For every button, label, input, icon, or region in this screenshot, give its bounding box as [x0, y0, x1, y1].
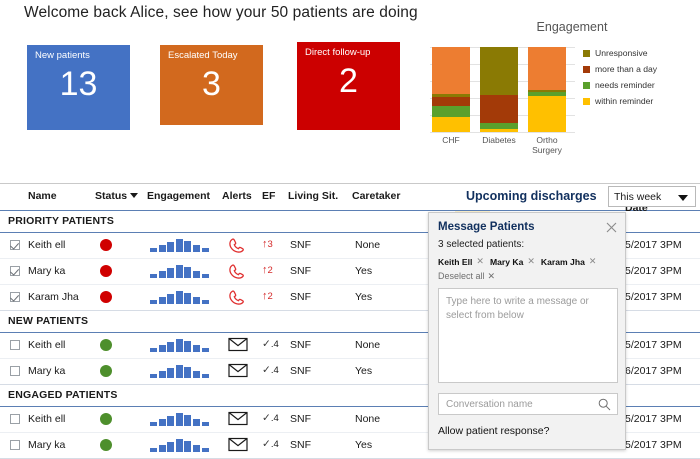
- chart-legend: Unresponsivemore than a dayneeds reminde…: [583, 48, 700, 113]
- status-badge: [100, 413, 112, 425]
- sparkline-bar: [159, 419, 166, 426]
- chart-bar: [480, 47, 518, 132]
- chart-bar-segment: [432, 106, 470, 117]
- message-textarea[interactable]: Type here to write a message or select f…: [438, 288, 618, 383]
- sparkline-bar: [176, 413, 183, 426]
- deselect-all-button[interactable]: Deselect all✕: [438, 271, 495, 282]
- living-situation: SNF: [290, 239, 311, 251]
- sparkline-bar: [193, 419, 200, 426]
- chart-bar-segment: [480, 47, 518, 95]
- legend-swatch: [583, 66, 590, 73]
- caretaker-value: None: [355, 339, 380, 351]
- legend-item: Unresponsive: [583, 48, 700, 58]
- sparkline-bar: [202, 374, 209, 378]
- sparkline-bar: [150, 422, 157, 426]
- kpi-label: New patients: [35, 50, 90, 61]
- close-icon: ✕: [488, 271, 496, 281]
- engagement-sparkline: [150, 291, 212, 304]
- legend-item: needs reminder: [583, 80, 700, 90]
- phone-icon[interactable]: [228, 263, 248, 280]
- ef-value: ↑2: [262, 264, 273, 276]
- patient-name[interactable]: Mary ka: [28, 265, 65, 277]
- engagement-chart: Engagement CHFDiabetesOrtho Surgery Unre…: [425, 20, 700, 170]
- engagement-sparkline: [150, 413, 212, 426]
- sparkline-bar: [176, 365, 183, 378]
- table-group-title: ENGAGED PATIENTS: [8, 389, 118, 401]
- column-header-name[interactable]: Name: [28, 190, 57, 202]
- sparkline-bar: [150, 448, 157, 452]
- patient-chip-label: Mary Ka: [490, 257, 523, 267]
- chart-title: Engagement: [497, 20, 647, 34]
- envelope-icon[interactable]: [228, 411, 248, 428]
- row-checkbox[interactable]: [10, 440, 20, 450]
- chevron-down-icon: [678, 195, 688, 201]
- sparkline-bar: [202, 248, 209, 252]
- discharge-date: 5/2017 3PM: [625, 339, 682, 351]
- sparkline-bar: [202, 300, 209, 304]
- discharge-date: 5/2017 3PM: [625, 413, 682, 425]
- deselect-all-label: Deselect all: [438, 271, 485, 281]
- sparkline-bar: [159, 297, 166, 304]
- chart-x-label: Diabetes: [473, 136, 525, 146]
- message-placeholder: Type here to write a message or select f…: [446, 295, 610, 322]
- column-header-engagement[interactable]: Engagement: [147, 190, 210, 202]
- sparkline-bar: [176, 239, 183, 252]
- sparkline-bar: [184, 441, 191, 452]
- sparkline-bar: [167, 342, 174, 352]
- sparkline-bar: [202, 274, 209, 278]
- chart-bar: [528, 47, 566, 132]
- sparkline-bar: [193, 271, 200, 278]
- sparkline-bar: [193, 445, 200, 452]
- dialog-title: Message Patients: [438, 221, 535, 233]
- sparkline-bar: [159, 371, 166, 378]
- patient-name[interactable]: Keith ell: [28, 339, 65, 351]
- engagement-sparkline: [150, 339, 212, 352]
- chart-bar-segment: [528, 47, 566, 90]
- dashboard-root: Welcome back Alice, see how your 50 pati…: [0, 0, 700, 450]
- discharge-date: 5/2017 3PM: [625, 439, 682, 451]
- caretaker-value: None: [355, 413, 380, 425]
- ef-value: ✓.4: [262, 438, 279, 450]
- legend-label: within reminder: [595, 96, 653, 106]
- living-situation: SNF: [290, 291, 311, 303]
- legend-item: within reminder: [583, 96, 700, 106]
- engagement-sparkline: [150, 439, 212, 452]
- engagement-sparkline: [150, 265, 212, 278]
- sparkline-bar: [150, 248, 157, 252]
- close-icon[interactable]: [606, 220, 617, 231]
- kpi-value: 13: [27, 67, 130, 101]
- status-badge: [100, 265, 112, 277]
- discharge-range-select[interactable]: This week: [608, 186, 696, 207]
- patient-chip-label: Karam Jha: [541, 257, 585, 267]
- envelope-icon[interactable]: [228, 437, 248, 454]
- ef-value: ✓.4: [262, 412, 279, 424]
- sparkline-bar: [176, 291, 183, 304]
- dialog-subtitle: 3 selected patients:: [438, 239, 524, 250]
- sparkline-bar: [184, 367, 191, 378]
- sparkline-bar: [176, 339, 183, 352]
- sparkline-bar: [176, 265, 183, 278]
- sparkline-bar: [159, 271, 166, 278]
- close-icon[interactable]: ✕: [476, 256, 484, 267]
- chart-bar-segment: [480, 123, 518, 130]
- sort-descending-icon: [130, 193, 138, 198]
- status-badge: [100, 291, 112, 303]
- selected-patient-chips: Keith Ell✕Mary Ka✕Karam Jha✕: [438, 256, 620, 269]
- sparkline-bar: [167, 294, 174, 304]
- sparkline-bar: [202, 448, 209, 452]
- legend-swatch: [583, 82, 590, 89]
- sparkline-bar: [193, 345, 200, 352]
- close-icon[interactable]: ✕: [589, 256, 597, 267]
- sparkline-bar: [150, 348, 157, 352]
- living-situation: SNF: [290, 439, 311, 451]
- sparkline-bar: [159, 345, 166, 352]
- kpi-card-direct-follow-up[interactable]: Direct follow-up 2: [297, 42, 400, 130]
- status-badge: [100, 339, 112, 351]
- discharge-date: 6/2017 3PM: [625, 365, 682, 377]
- living-situation: SNF: [290, 365, 311, 377]
- patient-name[interactable]: Mary ka: [28, 365, 65, 377]
- chart-plot-area: CHFDiabetesOrtho Surgery: [430, 47, 575, 132]
- upcoming-discharges-title: Upcoming discharges: [466, 189, 597, 203]
- envelope-icon[interactable]: [228, 363, 248, 380]
- check-icon: ✓: [262, 338, 271, 350]
- legend-swatch: [583, 98, 590, 105]
- column-header-living-sit[interactable]: Living Sit.: [288, 190, 338, 202]
- patient-chip-label: Keith Ell: [438, 257, 472, 267]
- table-group-title: NEW PATIENTS: [8, 315, 88, 327]
- patient-chip[interactable]: Mary Ka✕: [490, 256, 535, 267]
- chart-bar-segment: [432, 117, 470, 132]
- chart-bar-segment: [480, 129, 518, 132]
- phone-icon[interactable]: [228, 237, 248, 254]
- legend-label: needs reminder: [595, 80, 655, 90]
- status-badge: [100, 239, 112, 251]
- living-situation: SNF: [290, 339, 311, 351]
- kpi-card-escalated-today[interactable]: Escalated Today 3: [160, 45, 263, 125]
- caretaker-value: None: [355, 239, 380, 251]
- sparkline-bar: [159, 445, 166, 452]
- sparkline-bar: [193, 371, 200, 378]
- legend-swatch: [583, 50, 590, 57]
- sparkline-bar: [176, 439, 183, 452]
- patient-chip[interactable]: Karam Jha✕: [541, 256, 597, 267]
- patient-name[interactable]: Mary ka: [28, 439, 65, 451]
- column-header-caretaker[interactable]: Caretaker: [352, 190, 400, 202]
- kpi-value: 2: [297, 64, 400, 98]
- kpi-card-new-patients[interactable]: New patients 13: [27, 45, 130, 130]
- ef-value: ↑3: [262, 238, 273, 250]
- sparkline-bar: [184, 241, 191, 252]
- living-situation: SNF: [290, 265, 311, 277]
- sparkline-bar: [184, 293, 191, 304]
- patient-name[interactable]: Keith ell: [28, 239, 65, 251]
- engagement-sparkline: [150, 365, 212, 378]
- sparkline-bar: [167, 416, 174, 426]
- kpi-value: 3: [160, 67, 263, 101]
- envelope-icon[interactable]: [228, 337, 248, 354]
- chart-x-label: Ortho Surgery: [521, 136, 573, 156]
- sparkline-bar: [167, 368, 174, 378]
- caretaker-value: Yes: [355, 265, 372, 277]
- patient-chip[interactable]: Keith Ell✕: [438, 256, 484, 267]
- chart-bar: [432, 47, 470, 132]
- row-checkbox[interactable]: [10, 240, 20, 250]
- patient-name[interactable]: Karam Jha: [28, 291, 79, 303]
- discharge-range-value: This week: [614, 191, 661, 203]
- discharge-date: 5/2017 3PM: [625, 265, 682, 277]
- conversation-name-input[interactable]: Conversation name: [438, 393, 618, 415]
- sparkline-bar: [150, 374, 157, 378]
- caretaker-value: Yes: [355, 439, 372, 451]
- sparkline-bar: [184, 341, 191, 352]
- column-header-ef[interactable]: EF: [262, 190, 275, 202]
- allow-patient-response-label: Allow patient response?: [438, 425, 550, 437]
- chart-x-label: CHF: [425, 136, 477, 146]
- page-title: Welcome back Alice, see how your 50 pati…: [24, 4, 418, 22]
- table-group-title: PRIORITY PATIENTS: [8, 215, 114, 227]
- sparkline-bar: [150, 274, 157, 278]
- status-badge: [100, 365, 112, 377]
- chart-bar-segment: [432, 97, 470, 106]
- check-icon: ✓: [262, 438, 271, 450]
- check-icon: ✓: [262, 364, 271, 376]
- sparkline-bar: [193, 245, 200, 252]
- row-checkbox[interactable]: [10, 414, 20, 424]
- patient-name[interactable]: Keith ell: [28, 413, 65, 425]
- phone-icon[interactable]: [228, 289, 248, 306]
- sparkline-bar: [202, 422, 209, 426]
- chart-bar-segment: [432, 47, 470, 94]
- sparkline-bar: [167, 268, 174, 278]
- ef-value: ✓.4: [262, 364, 279, 376]
- chart-bar-segment: [480, 95, 518, 122]
- legend-item: more than a day: [583, 64, 700, 74]
- row-checkbox[interactable]: [10, 266, 20, 276]
- discharge-date: 5/2017 3PM: [625, 239, 682, 251]
- sparkline-bar: [202, 348, 209, 352]
- column-header-alerts[interactable]: Alerts: [222, 190, 252, 202]
- kpi-label: Direct follow-up: [305, 47, 370, 58]
- sparkline-bar: [159, 245, 166, 252]
- chart-bar-segment: [528, 96, 566, 132]
- check-icon: ✓: [262, 412, 271, 424]
- sparkline-bar: [184, 267, 191, 278]
- row-checkbox[interactable]: [10, 366, 20, 376]
- message-patients-dialog: Message Patients 3 selected patients: Ke…: [428, 212, 626, 450]
- living-situation: SNF: [290, 413, 311, 425]
- sparkline-bar: [167, 242, 174, 252]
- sparkline-bar: [184, 415, 191, 426]
- row-checkbox[interactable]: [10, 340, 20, 350]
- column-header-status[interactable]: Status: [95, 190, 138, 202]
- close-icon[interactable]: ✕: [527, 256, 535, 267]
- ef-value: ✓.4: [262, 338, 279, 350]
- status-badge: [100, 439, 112, 451]
- row-checkbox[interactable]: [10, 292, 20, 302]
- sparkline-bar: [150, 300, 157, 304]
- ef-value: ↑2: [262, 290, 273, 302]
- search-icon: [598, 398, 611, 416]
- kpi-label: Escalated Today: [168, 50, 238, 61]
- legend-label: Unresponsive: [595, 48, 648, 58]
- sparkline-bar: [193, 297, 200, 304]
- discharge-date: 5/2017 3PM: [625, 291, 682, 303]
- legend-label: more than a day: [595, 64, 657, 74]
- caretaker-value: Yes: [355, 365, 372, 377]
- conversation-name-placeholder: Conversation name: [446, 399, 533, 410]
- engagement-sparkline: [150, 239, 212, 252]
- caretaker-value: Yes: [355, 291, 372, 303]
- chart-gridline: [430, 132, 575, 133]
- sparkline-bar: [167, 442, 174, 452]
